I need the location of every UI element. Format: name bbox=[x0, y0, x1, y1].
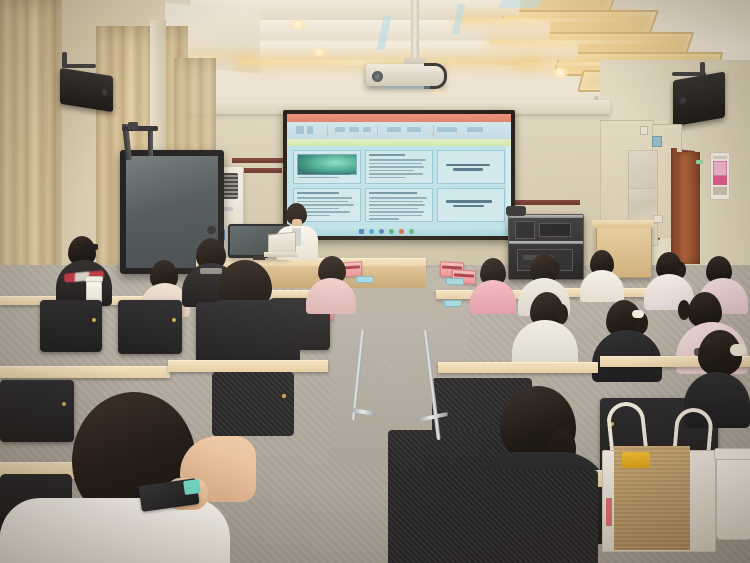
yellow-envelope bbox=[622, 452, 650, 468]
phone-case-accent bbox=[183, 479, 201, 495]
tote-bag bbox=[600, 402, 730, 552]
start-icon[interactable] bbox=[359, 229, 364, 234]
laptop-base bbox=[264, 252, 298, 257]
desk-placard bbox=[444, 300, 462, 307]
ponytail bbox=[678, 300, 690, 320]
cove-light-strip bbox=[489, 40, 670, 44]
entry-door[interactable] bbox=[676, 152, 700, 264]
eyeglasses-icon bbox=[84, 244, 98, 250]
doc-card-1 bbox=[293, 150, 361, 184]
exit-indicator bbox=[696, 160, 703, 164]
eyeglasses-icon bbox=[694, 348, 714, 356]
wall-sign bbox=[652, 136, 662, 147]
doc-card-2 bbox=[365, 150, 433, 184]
speaker-cone-icon bbox=[679, 96, 687, 105]
office-ribbon bbox=[287, 122, 511, 140]
chat-icon[interactable] bbox=[409, 229, 414, 234]
hair-scrunchie bbox=[632, 310, 644, 318]
doc-card-3 bbox=[437, 150, 505, 184]
safety-notice-poster bbox=[710, 152, 730, 200]
lecture-chair[interactable] bbox=[0, 380, 74, 442]
desk-placard bbox=[446, 278, 464, 285]
hair-scrunchie bbox=[730, 344, 746, 356]
mail-icon[interactable] bbox=[389, 229, 394, 234]
taskbar bbox=[287, 226, 511, 236]
case-handle bbox=[506, 206, 526, 216]
window-curtain-left bbox=[0, 0, 62, 300]
door-frame bbox=[671, 148, 677, 266]
cup-lid bbox=[714, 448, 750, 460]
recessed-downlight bbox=[288, 20, 308, 29]
projection-screen bbox=[283, 110, 515, 240]
lecture-chair[interactable] bbox=[40, 300, 102, 352]
media-icon[interactable] bbox=[399, 229, 404, 234]
display-stand-leg bbox=[148, 128, 153, 156]
lecture-chair[interactable] bbox=[388, 470, 598, 563]
wall-speaker-right bbox=[673, 71, 725, 126]
projector-mount-pole bbox=[411, 0, 419, 62]
speaker-cone-icon bbox=[101, 88, 108, 96]
desk-placard bbox=[356, 276, 374, 283]
recessed-downlight bbox=[550, 68, 570, 77]
browser-icon[interactable] bbox=[369, 229, 374, 234]
projected-desktop bbox=[287, 114, 511, 236]
lecture-hall-photo bbox=[0, 0, 750, 563]
doc-card-6 bbox=[437, 188, 505, 222]
ponytail bbox=[556, 304, 568, 324]
lecture-chair[interactable] bbox=[118, 300, 182, 354]
ponytail bbox=[551, 262, 560, 275]
wall-outlet bbox=[653, 215, 663, 223]
cup-lid bbox=[85, 276, 103, 282]
projector-glow bbox=[386, 86, 430, 89]
wall-trim bbox=[232, 158, 290, 163]
ceiling-light-slot bbox=[498, 0, 543, 8]
document-card-grid bbox=[293, 150, 505, 222]
microphone-icon bbox=[207, 226, 216, 234]
folder-icon[interactable] bbox=[379, 229, 384, 234]
ceiling-band bbox=[227, 42, 579, 60]
recessed-downlight bbox=[310, 48, 328, 56]
display-camera-icon bbox=[128, 122, 138, 130]
speaker-bracket bbox=[62, 64, 96, 68]
lecture-chair[interactable] bbox=[212, 372, 294, 436]
projector-lens-icon bbox=[372, 71, 383, 82]
cove-light-strip bbox=[459, 18, 630, 22]
lectern-top bbox=[592, 220, 654, 228]
drink-cup bbox=[716, 452, 750, 540]
wall-switch bbox=[640, 126, 648, 135]
doc-card-5 bbox=[365, 188, 433, 222]
t-shirt-print bbox=[200, 268, 222, 274]
window-titlebar bbox=[287, 114, 511, 122]
doc-figure-image bbox=[297, 154, 357, 175]
document-page bbox=[287, 146, 511, 226]
tote-print bbox=[606, 498, 612, 526]
